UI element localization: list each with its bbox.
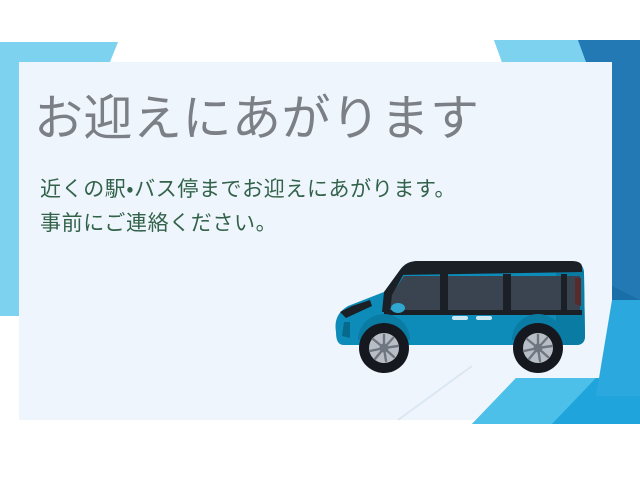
top-right-dark-blue-strip bbox=[578, 40, 640, 62]
car-tail-light bbox=[575, 278, 581, 306]
description-line: 近くの駅・バス停までお迎えにあがります。 bbox=[40, 173, 554, 207]
car-front-wheel bbox=[359, 323, 409, 373]
car-rear-wheel bbox=[513, 323, 563, 373]
page-title: お迎えにあがります bbox=[34, 92, 554, 147]
car-d-pillar bbox=[561, 274, 567, 312]
car-belt-line bbox=[384, 310, 582, 315]
car-front-side-window bbox=[446, 276, 504, 312]
description-line: 事前にご連絡ください。 bbox=[40, 207, 554, 241]
car-c-pillar bbox=[503, 274, 511, 314]
car-side-mirror bbox=[391, 303, 405, 313]
left-accent-top-tab bbox=[26, 42, 118, 62]
car-rear-door-handle bbox=[476, 316, 492, 320]
banner-description: 近くの駅・バス停までお迎えにあがります。 事前にご連絡ください。 bbox=[40, 173, 554, 241]
banner-text-block: お迎えにあがります 近くの駅・バス停までお迎えにあがります。 事前にご連絡くださ… bbox=[34, 92, 554, 241]
car-rear-side-window bbox=[510, 276, 562, 312]
top-right-light-blue-strip bbox=[494, 40, 586, 62]
right-dark-blue-band bbox=[612, 40, 640, 300]
car-front-door-handle bbox=[452, 316, 468, 320]
promo-banner: お迎えにあがります 近くの駅・バス停までお迎えにあがります。 事前にご連絡くださ… bbox=[0, 0, 640, 480]
car-b-pillar bbox=[440, 274, 448, 314]
